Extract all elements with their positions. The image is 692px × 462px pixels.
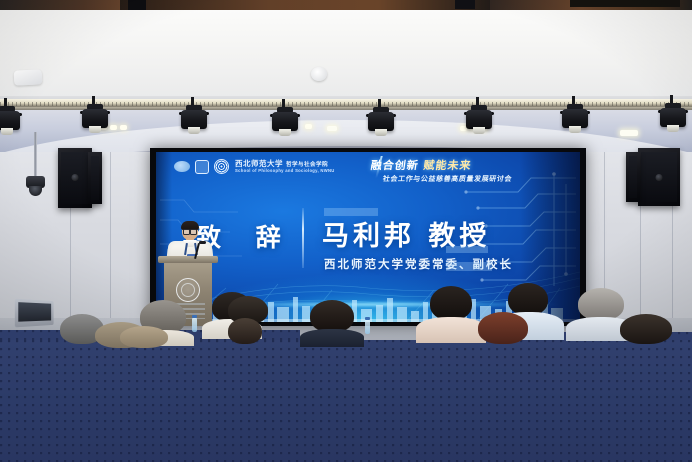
stage-spotlight-8 xyxy=(660,103,686,133)
title-vertical-divider xyxy=(302,208,304,268)
downlight-right xyxy=(620,130,638,136)
wall-speaker-left-icon xyxy=(58,148,92,208)
water-bottle-cap xyxy=(192,315,197,318)
microphone-head-icon xyxy=(199,241,206,244)
camera-mount-pole xyxy=(34,132,37,178)
downlight-group-2 xyxy=(305,124,312,129)
slogan-line2: 社会工作与公益慈善高质量发展研讨会 xyxy=(382,174,513,184)
screen-slogan: 融合创新 赋能未来 社会工作与公益慈善高质量发展研讨会 xyxy=(368,157,515,184)
stage-spotlight-1 xyxy=(0,106,20,136)
ceiling-recess-right xyxy=(570,0,680,7)
university-name-cn: 西北师范大学 xyxy=(235,160,283,168)
stage-spotlight-3 xyxy=(181,105,207,135)
wall-panel-seam xyxy=(110,152,111,340)
ripple-emblem-icon xyxy=(214,159,229,174)
slogan-line1b: 赋能未来 xyxy=(423,159,473,172)
downlight-single xyxy=(327,126,337,131)
audience-head xyxy=(620,314,672,346)
audience-head xyxy=(120,326,168,348)
school-name-cn: 哲学与社会学院 xyxy=(286,160,328,168)
title-highlight-3 xyxy=(446,262,492,271)
wood-ceiling-trim-inner xyxy=(120,0,490,10)
wave-emblem-icon xyxy=(174,161,190,172)
square-emblem-icon xyxy=(195,160,209,174)
water-bottle xyxy=(192,318,197,332)
smoke-detector-icon xyxy=(311,67,327,81)
screen-logo-row: 西北师范大学 哲学与社会学院 School of Philosophy and … xyxy=(174,159,335,174)
university-seal-icon xyxy=(176,278,200,302)
stage-spotlight-5 xyxy=(368,107,394,137)
audience-head xyxy=(478,312,528,346)
water-bottle xyxy=(365,320,370,334)
water-bottle-cap xyxy=(365,317,370,320)
wall-speaker-right-side xyxy=(626,152,640,202)
wall-speaker-left-side xyxy=(88,152,102,204)
conference-hall-photo: 西北师范大学 哲学与社会学院 School of Philosophy and … xyxy=(0,0,692,462)
laptop-screen xyxy=(15,299,54,328)
audience-head xyxy=(228,318,262,344)
wifi-access-point-icon xyxy=(14,69,43,85)
bottom-navy-band xyxy=(0,340,692,462)
slogan-line1a: 融合创新 xyxy=(370,159,420,172)
ceiling-recess-mid xyxy=(455,0,475,9)
stage-spotlight-6 xyxy=(466,105,492,135)
stage-spotlight-7 xyxy=(562,104,588,134)
eyeglasses-icon xyxy=(183,229,197,233)
school-name-en: School of Philosophy and Sociology, NWNU xyxy=(235,169,335,173)
stage-spotlight-4 xyxy=(272,107,298,137)
audience-head xyxy=(310,300,354,344)
audience-head xyxy=(430,286,472,342)
stage-spotlight-2 xyxy=(82,104,108,134)
audience-head xyxy=(578,288,624,340)
wall-speaker-right-icon xyxy=(638,148,680,206)
title-highlight-2 xyxy=(446,246,488,253)
ceiling-surface xyxy=(0,10,692,106)
